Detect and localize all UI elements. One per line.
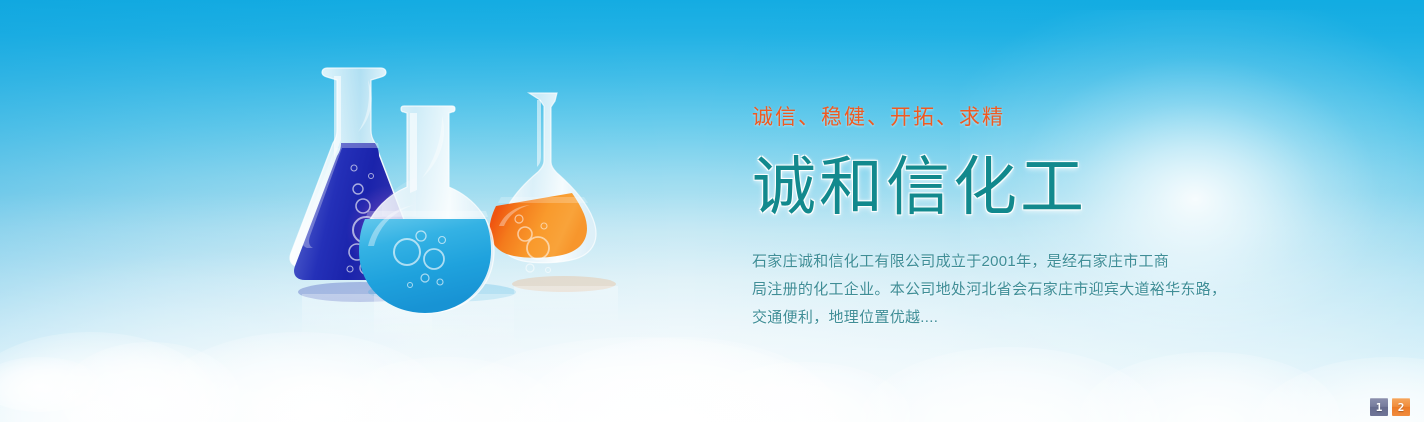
description-line: 石家庄诚和信化工有限公司成立于2001年，是经石家庄市工商 bbox=[752, 248, 1272, 276]
pagination-slide-1[interactable]: 1 bbox=[1370, 398, 1388, 416]
banner-tagline: 诚信、稳健、开拓、求精 bbox=[752, 104, 1272, 132]
pagination-slide-2[interactable]: 2 bbox=[1392, 398, 1410, 416]
chemistry-flasks-illustration bbox=[282, 56, 632, 356]
company-title: 诚和信化工 bbox=[752, 150, 1272, 224]
round-bottom-flask bbox=[359, 106, 494, 313]
carousel-pagination[interactable]: 1 2 bbox=[1370, 398, 1410, 416]
company-description: 石家庄诚和信化工有限公司成立于2001年，是经石家庄市工商 局注册的化工企业。本… bbox=[752, 248, 1272, 332]
hero-banner: 诚信、稳健、开拓、求精 诚和信化工 石家庄诚和信化工有限公司成立于2001年，是… bbox=[0, 0, 1424, 422]
description-line: 交通便利，地理位置优越.... bbox=[752, 304, 1272, 332]
pear-shaped-flask bbox=[490, 93, 596, 273]
banner-copy: 诚信、稳健、开拓、求精 诚和信化工 石家庄诚和信化工有限公司成立于2001年，是… bbox=[752, 104, 1272, 332]
description-line: 局注册的化工企业。本公司地处河北省会石家庄市迎宾大道裕华东路， bbox=[752, 276, 1272, 304]
